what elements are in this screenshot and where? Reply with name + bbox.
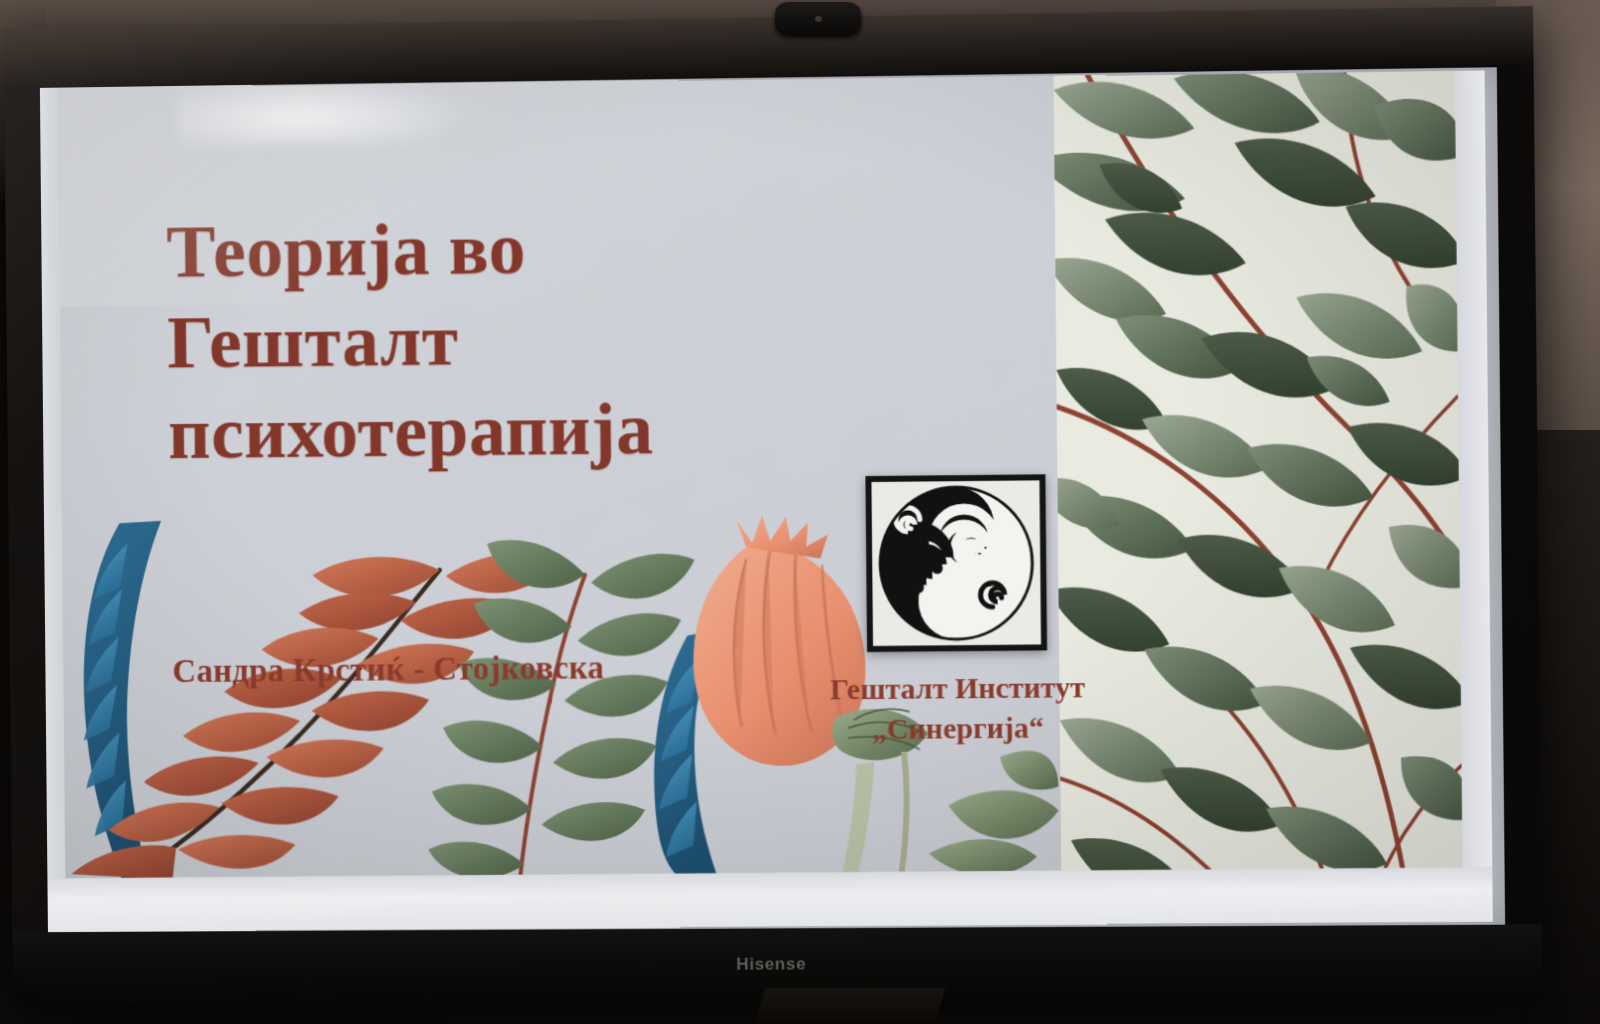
institute-line-1: Гешталт Институт bbox=[777, 668, 1137, 711]
sage-leaves-right bbox=[928, 750, 1059, 875]
tv-brand-label: Hisense bbox=[736, 954, 806, 974]
title-line-3: психотерапија bbox=[168, 383, 806, 480]
slide-margin-bottom bbox=[48, 867, 1494, 932]
spiral-yin-yang-icon bbox=[875, 482, 1037, 644]
institute-line-2: „Синергија“ bbox=[778, 707, 1138, 750]
eucalyptus-pattern-panel bbox=[1054, 71, 1463, 870]
title-line-1: Теорија во bbox=[166, 201, 804, 299]
title-line-2: Гешталт bbox=[167, 292, 805, 390]
presentation-slide: Теорија во Гешталт психотерапија Сандра … bbox=[40, 71, 1493, 932]
tv-screen: Теорија во Гешталт психотерапија Сандра … bbox=[40, 67, 1505, 932]
green-leaf-branch bbox=[425, 538, 697, 878]
page-title: Теорија во Гешталт психотерапија bbox=[166, 201, 805, 480]
photograph-of-presentation-screen: Теорија во Гешталт психотерапија Сандра … bbox=[0, 0, 1600, 1024]
author-name: Сандра Крстиќ - Стојковска bbox=[172, 649, 809, 692]
slide-artboard: Теорија во Гешталт психотерапија Сандра … bbox=[58, 71, 1463, 878]
webcam-icon bbox=[775, 2, 861, 36]
tv-stand bbox=[755, 988, 945, 1024]
webcam-lens-icon bbox=[815, 16, 822, 22]
gestalt-institute-spiral-logo bbox=[865, 474, 1047, 652]
institute-name: Гешталт Институт „Синергија“ bbox=[777, 668, 1138, 750]
television: Теорија во Гешталт психотерапија Сандра … bbox=[4, 6, 1543, 1004]
eucalyptus-pattern-icon bbox=[1054, 71, 1463, 870]
